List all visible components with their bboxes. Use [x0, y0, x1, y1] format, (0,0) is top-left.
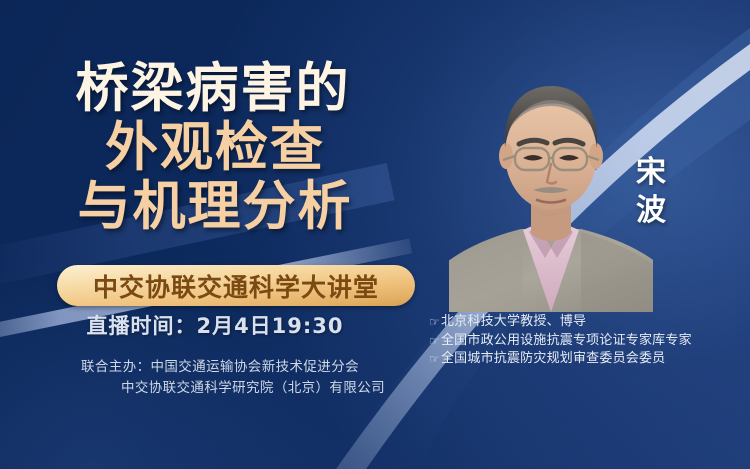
pointing-hand-icon: ☞: [429, 313, 440, 332]
credential-item: ☞ 北京科技大学教授、博导: [429, 313, 739, 332]
credential-text: 全国市政公用设施抗震专项论证专家库专家: [441, 332, 692, 351]
credential-item: ☞ 全国市政公用设施抗震专项论证专家库专家: [429, 332, 739, 351]
credential-item: ☞ 全国城市抗震防灾规划审查委员会委员: [429, 350, 739, 369]
title-line-3: 与机理分析: [0, 180, 430, 233]
series-name-label: 中交协联交通科学大讲堂: [93, 268, 379, 304]
title-line-1: 桥梁病害的: [0, 62, 430, 115]
speaker-name-char-1: 宋: [629, 154, 673, 192]
speaker-name: 宋 波: [629, 154, 673, 230]
broadcast-time-label: 直播时间：2月4日19:30: [0, 310, 430, 340]
organizer-block: 联合主办：中国交通运输协会新技术促进分会 中交协联交通科学研究院（北京）有限公司: [0, 357, 440, 399]
speaker-name-char-2: 波: [629, 192, 673, 230]
series-name-badge: 中交协联交通科学大讲堂: [57, 265, 415, 306]
speaker-photo: [449, 72, 653, 312]
organizer-line-2: 中交协联交通科学研究院（北京）有限公司: [0, 378, 440, 399]
title-line-2: 外观检查: [0, 121, 430, 174]
speaker-credentials: ☞ 北京科技大学教授、博导 ☞ 全国市政公用设施抗震专项论证专家库专家 ☞ 全国…: [429, 313, 739, 369]
speaker-portrait-svg: [449, 72, 653, 312]
organizer-line-1: 联合主办：中国交通运输协会新技术促进分会: [0, 357, 440, 378]
credential-text: 北京科技大学教授、博导: [441, 313, 586, 332]
pointing-hand-icon: ☞: [429, 350, 440, 369]
pointing-hand-icon: ☞: [429, 332, 440, 351]
credential-text: 全国城市抗震防灾规划审查委员会委员: [441, 350, 665, 369]
webinar-poster: 桥梁病害的 外观检查 与机理分析 中交协联交通科学大讲堂 直播时间：2月4日19…: [0, 0, 750, 469]
poster-title: 桥梁病害的 外观检查 与机理分析: [0, 62, 430, 233]
